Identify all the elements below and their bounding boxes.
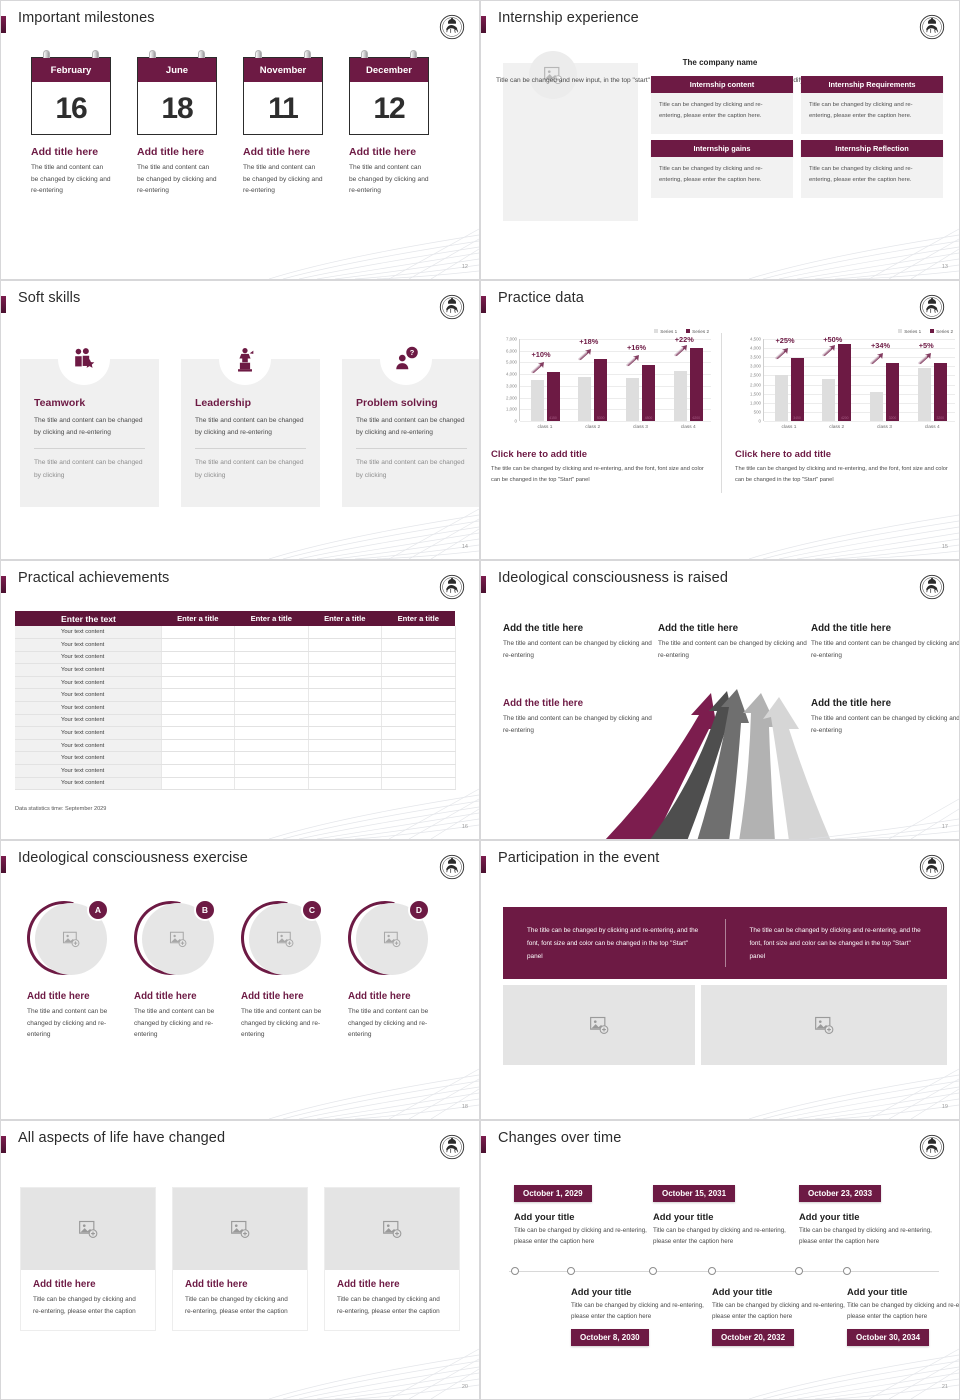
timeline-body: Title can be changed by clicking and re-… (847, 1300, 960, 1322)
raised-item: Add the title here The title and content… (811, 698, 960, 737)
slide-soft-skills: Soft skills Teamwork (0, 280, 480, 560)
circle-badge: B (194, 899, 216, 921)
chart-bar-value: 6200 (690, 416, 703, 420)
skill-title: Teamwork (34, 397, 145, 409)
table-cell (308, 676, 382, 689)
chart-bar (578, 377, 591, 422)
internship-box-body: Title can be changed by clicking and re-… (801, 93, 943, 134)
raised-item: Add the title here The title and content… (811, 623, 960, 662)
company-name: The company name (481, 58, 959, 67)
table-cell (235, 727, 309, 740)
table-cell (161, 626, 235, 639)
milestone-title: Add title here (137, 146, 217, 158)
timeline-date-chip: October 23, 2033 (799, 1185, 881, 1202)
timeline-title: Add your title (653, 1211, 793, 1222)
table-row: Your text content (15, 739, 455, 752)
chart-delta-annotation: +25% (775, 336, 794, 345)
table-cell (308, 727, 382, 740)
chart-bar (822, 379, 835, 421)
university-seal-icon (439, 574, 465, 600)
page-title: Participation in the event (498, 850, 659, 866)
skill-title: Leadership (195, 397, 306, 409)
table-cell (382, 765, 456, 778)
skill-body: The title and content can be changed by … (34, 415, 145, 439)
table-cell (235, 777, 309, 790)
life-card-row: Add title here Title can be changed by c… (20, 1187, 460, 1331)
table-note: Data statistics time: September 2029 (15, 806, 106, 812)
table-header-cell: Enter the text (15, 611, 161, 626)
calendar-icon: December 12 (349, 57, 429, 135)
life-card: Add title here Title can be changed by c… (20, 1187, 156, 1331)
table-cell: Your text content (15, 626, 161, 639)
life-card-body: Title can be changed by clicking and re-… (185, 1294, 295, 1318)
add-image-icon (169, 930, 187, 948)
table-cell: Your text content (15, 714, 161, 727)
add-image-icon (276, 930, 294, 948)
table-row: Your text content (15, 702, 455, 715)
circle-row: A Add title here The title and content c… (27, 899, 430, 1041)
chart-bar: 5300 (594, 359, 607, 421)
page-title: Important milestones (18, 10, 155, 26)
timeline-node (649, 1267, 657, 1275)
trend-arrow-icon (918, 353, 932, 365)
circle-title: Add title here (27, 991, 109, 1002)
timeline-entry-bottom: Add your title Title can be changed by c… (712, 1286, 852, 1346)
timeline-node (708, 1267, 716, 1275)
life-card-title: Add title here (33, 1279, 143, 1290)
chart-divider (721, 333, 722, 493)
table-cell (308, 739, 382, 752)
slide-header: Participation in the event (481, 853, 959, 879)
university-seal-icon (919, 294, 945, 320)
wave-decoration (269, 209, 479, 279)
table-cell (161, 752, 235, 765)
image-placeholder[interactable] (173, 1188, 307, 1270)
chart-bar: 6200 (690, 348, 703, 421)
table-cell (161, 739, 235, 752)
add-image-icon (230, 1219, 250, 1239)
table-cell (235, 651, 309, 664)
event-text-right: The title can be changed by clicking and… (726, 907, 948, 979)
circle-body: The title and content can be changed by … (241, 1006, 323, 1041)
timeline-entry-bottom: Add your title Title can be changed by c… (571, 1286, 711, 1346)
table-header-cell: Enter a title (161, 611, 235, 626)
internship-box-body: Title can be changed by clicking and re-… (651, 93, 793, 134)
table-cell (161, 639, 235, 652)
table-row: Your text content (15, 651, 455, 664)
chart-plot-area: 01,0002,0003,0004,0005,0006,0007,0004150… (519, 339, 711, 421)
slide-participation-event: Participation in the event The title can… (480, 840, 960, 1120)
add-image-icon (814, 1015, 834, 1035)
table-row: Your text content (15, 689, 455, 702)
university-seal-icon (439, 1134, 465, 1160)
chart-x-label: class 2 (578, 425, 607, 430)
page-number: 16 (462, 824, 468, 830)
leadership-icon (219, 333, 271, 385)
university-seal-icon (439, 14, 465, 40)
table-cell: Your text content (15, 752, 161, 765)
timeline-title: Add your title (571, 1286, 711, 1297)
image-placeholder[interactable] (325, 1188, 459, 1270)
slide-header: Practice data (481, 293, 959, 319)
table-cell (161, 702, 235, 715)
chart-legend: Series 1 Series 2 (654, 329, 709, 334)
chart-caption-left: Click here to add title The title can be… (491, 449, 713, 486)
timeline-title: Add your title (847, 1286, 960, 1297)
circle-body: The title and content can be changed by … (348, 1006, 430, 1041)
add-image-icon (78, 1219, 98, 1239)
table-cell: Your text content (15, 777, 161, 790)
chart-bar-group: 3450class 1 (775, 358, 804, 421)
table-cell (235, 664, 309, 677)
svg-text:?: ? (410, 348, 415, 357)
milestone-body: The title and content can be changed by … (137, 162, 217, 197)
slide-header: Ideological consciousness exercise (1, 853, 479, 879)
chart-bar (674, 371, 687, 421)
achievements-table: Enter the text Enter a title Enter a tit… (15, 611, 456, 790)
table-cell (308, 702, 382, 715)
slide-header: All aspects of life have changed (1, 1133, 479, 1159)
raised-item-title: Add the title here (503, 623, 653, 634)
chart-y-tick: 1,500 (750, 391, 761, 396)
timeline-body: Title can be changed by clicking and re-… (712, 1300, 852, 1322)
slide-practical-achievements: Practical achievements Enter the text En… (0, 560, 480, 840)
timeline-body: Title can be changed by clicking and re-… (653, 1225, 793, 1247)
chart-x-label: class 2 (822, 425, 851, 430)
page-number: 19 (942, 1104, 948, 1110)
calendar-month: June (166, 65, 188, 76)
chart-bar (870, 392, 883, 421)
chart-bar: 4150 (547, 372, 560, 421)
chart-bar-value: 4200 (838, 416, 851, 420)
chart-y-tick: 4,000 (506, 372, 517, 377)
title-accent-bar (1, 1136, 6, 1153)
title-accent-bar (481, 576, 486, 593)
slide-header: Practical achievements (1, 573, 479, 599)
page-number: 21 (942, 1384, 948, 1390)
raised-item: Add the title here The title and content… (503, 623, 653, 662)
life-card-title: Add title here (185, 1279, 295, 1290)
table-cell (235, 702, 309, 715)
chart-legend: Series 1 Series 2 (898, 329, 953, 334)
slide-ideological-exercise: Ideological consciousness exercise (0, 840, 480, 1120)
table-cell (161, 714, 235, 727)
title-accent-bar (1, 16, 6, 33)
table-cell (382, 777, 456, 790)
trend-arrow-icon (531, 362, 545, 374)
chart-plot-area: 05001,0001,5002,0002,5003,0003,5004,0004… (763, 339, 955, 421)
chart-caption-body: The title can be changed by clicking and… (491, 464, 713, 486)
slide-changes-over-time: Changes over time October 1, 2029 Add yo… (480, 1120, 960, 1400)
chart-y-tick: 7,000 (506, 337, 517, 342)
skill-subbody: The title and content can be changed by … (356, 457, 467, 481)
chart-delta-annotation: +22% (675, 335, 694, 344)
chart-y-tick: 6,000 (506, 348, 517, 353)
table-cell (161, 727, 235, 740)
title-accent-bar (1, 856, 6, 873)
slide-header: Internship experience (481, 13, 959, 39)
timeline-body: Title can be changed by clicking and re-… (571, 1300, 711, 1322)
internship-box: Internship Reflection Title can be chang… (801, 140, 943, 198)
timeline-entry-top: October 1, 2029 Add your title Title can… (514, 1183, 654, 1247)
image-placeholder[interactable] (503, 985, 695, 1065)
table-cell (235, 739, 309, 752)
chart-caption-body: The title can be changed by clicking and… (735, 464, 957, 486)
page-number: 20 (462, 1384, 468, 1390)
chart-y-tick: 2,000 (506, 395, 517, 400)
chart-x-label: class 3 (870, 425, 899, 430)
table-cell (382, 727, 456, 740)
raised-item-title: Add the title here (811, 623, 960, 634)
life-card-title: Add title here (337, 1279, 447, 1290)
chart-delta-annotation: +16% (627, 343, 646, 352)
chart-caption-right: Click here to add title The title can be… (735, 449, 957, 486)
table-cell (308, 777, 382, 790)
trend-arrow-icon (870, 353, 884, 365)
timeline-node (511, 1267, 519, 1275)
skill-subbody: The title and content can be changed by … (195, 457, 306, 481)
bar-chart-right: Series 1 Series 2 05001,0001,5002,0002,5… (737, 329, 959, 439)
page-title: Ideological consciousness exercise (18, 850, 248, 866)
table-row: Your text content (15, 752, 455, 765)
circle-body: The title and content can be changed by … (134, 1006, 216, 1041)
table-row: Your text content (15, 639, 455, 652)
add-image-icon (382, 1219, 402, 1239)
chart-delta-annotation: +34% (871, 341, 890, 350)
chart-caption-title: Click here to add title (735, 449, 957, 460)
table-cell (382, 739, 456, 752)
internship-box: Internship Requirements Title can be cha… (801, 76, 943, 134)
divider (34, 448, 145, 449)
chart-x-label: class 4 (674, 425, 703, 430)
chart-bar-group: 3200class 3 (870, 363, 899, 421)
table-cell (308, 689, 382, 702)
divider (356, 448, 467, 449)
slide-header: Soft skills (1, 293, 479, 319)
image-placeholder[interactable] (701, 985, 947, 1065)
wave-decoration (269, 1329, 479, 1399)
circle-title: Add title here (348, 991, 430, 1002)
circle-item: C Add title here The title and content c… (241, 899, 323, 1041)
milestone-title: Add title here (349, 146, 429, 158)
legend-item: Series 1 (898, 329, 921, 334)
page-title: All aspects of life have changed (18, 1130, 225, 1146)
university-seal-icon (439, 854, 465, 880)
university-seal-icon (919, 14, 945, 40)
table-cell (235, 676, 309, 689)
table-header-cell: Enter a title (308, 611, 382, 626)
legend-item: Series 2 (930, 329, 953, 334)
raised-item-body: The title and content can be changed by … (811, 638, 960, 662)
chart-bar (775, 375, 788, 421)
problem-solving-icon: ? (380, 333, 432, 385)
chart-bar: 4800 (642, 365, 655, 421)
legend-item: Series 1 (654, 329, 677, 334)
slide-all-aspects-life: All aspects of life have changed (0, 1120, 480, 1400)
event-text-left: The title can be changed by clicking and… (503, 907, 725, 979)
table-cell (308, 651, 382, 664)
chart-bar: 4200 (838, 344, 851, 421)
table-cell (308, 639, 382, 652)
table-cell (382, 689, 456, 702)
legend-item: Series 2 (686, 329, 709, 334)
title-accent-bar (1, 576, 6, 593)
table-cell (308, 765, 382, 778)
raised-item: Add the title here The title and content… (503, 698, 653, 737)
table-row: Your text content (15, 626, 455, 639)
trend-arrow-icon (578, 349, 592, 361)
circle-item: D Add title here The title and content c… (348, 899, 430, 1041)
title-accent-bar (481, 1136, 486, 1153)
table-row: Your text content (15, 777, 455, 790)
skill-card: Teamwork The title and content can be ch… (20, 359, 159, 507)
chart-y-tick: 2,000 (750, 382, 761, 387)
trend-arrow-icon (775, 348, 789, 360)
slide-internship-experience: Internship experience The company name T… (480, 0, 960, 280)
slide-header: Important milestones (1, 13, 479, 39)
calendar-month: December (366, 65, 412, 76)
milestone-item: June 18 Add title here The title and con… (137, 57, 217, 197)
page-number: 18 (462, 1104, 468, 1110)
timeline-date-chip: October 15, 2031 (653, 1185, 735, 1202)
table-cell (308, 664, 382, 677)
slide-ideological-raised: Ideological consciousness is raised Add … (480, 560, 960, 840)
chart-bar-value: 3200 (934, 416, 947, 420)
table-cell (161, 664, 235, 677)
raised-item-title: Add the title here (811, 698, 960, 709)
page-title: Changes over time (498, 1130, 621, 1146)
raised-item-body: The title and content can be changed by … (658, 638, 808, 662)
milestone-title: Add title here (243, 146, 323, 158)
table-cell (235, 626, 309, 639)
chart-bar-value: 5300 (594, 416, 607, 420)
table-cell (382, 639, 456, 652)
table-cell (235, 639, 309, 652)
table-cell: Your text content (15, 651, 161, 664)
chart-y-tick: 4,000 (750, 346, 761, 351)
skill-card: Leadership The title and content can be … (181, 359, 320, 507)
skill-title: Problem solving (356, 397, 467, 409)
calendar-month: February (51, 65, 92, 76)
calendar-month: November (260, 65, 306, 76)
wave-decoration (749, 489, 959, 559)
timeline-date-chip: October 30, 2034 (847, 1329, 929, 1346)
bar-chart-left: Series 1 Series 2 01,0002,0003,0004,0005… (493, 329, 715, 439)
table-row: Your text content (15, 765, 455, 778)
table-cell (308, 626, 382, 639)
chart-delta-annotation: +50% (823, 335, 842, 344)
table-cell (161, 777, 235, 790)
table-cell: Your text content (15, 727, 161, 740)
page-title: Soft skills (18, 290, 80, 306)
timeline-entry-top: October 23, 2033 Add your title Title ca… (799, 1183, 939, 1247)
raised-item-body: The title and content can be changed by … (811, 713, 960, 737)
image-placeholder[interactable] (21, 1188, 155, 1270)
table-header-cell: Enter a title (235, 611, 309, 626)
circle-title: Add title here (134, 991, 216, 1002)
chart-caption-title: Click here to add title (491, 449, 713, 460)
table-cell: Your text content (15, 765, 161, 778)
table-header-row: Enter the text Enter a title Enter a tit… (15, 611, 455, 626)
slide-header: Changes over time (481, 1133, 959, 1159)
circle-badge: A (87, 899, 109, 921)
internship-box: Internship gains Title can be changed by… (651, 140, 793, 198)
chart-x-label: class 4 (918, 425, 947, 430)
chart-bar: 3450 (791, 358, 804, 421)
chart-x-label: class 1 (531, 425, 560, 430)
chart-bar: 3200 (886, 363, 899, 421)
calendar-icon: February 16 (31, 57, 111, 135)
add-image-icon (383, 930, 401, 948)
circle-item: B Add title here The title and content c… (134, 899, 216, 1041)
chart-y-tick: 3,000 (506, 383, 517, 388)
chart-bar-group: 4800class 3 (626, 365, 655, 421)
page-number: 17 (942, 824, 948, 830)
page-title: Ideological consciousness is raised (498, 570, 728, 586)
circle-badge: D (408, 899, 430, 921)
divider (195, 448, 306, 449)
table-header-cell: Enter a title (382, 611, 456, 626)
milestone-body: The title and content can be changed by … (349, 162, 429, 197)
add-image-icon (589, 1015, 609, 1035)
university-seal-icon (919, 854, 945, 880)
raised-item-body: The title and content can be changed by … (503, 713, 653, 737)
calendar-day: 11 (244, 82, 322, 136)
table-cell (235, 765, 309, 778)
event-text-band: The title can be changed by clicking and… (503, 907, 947, 979)
page-number: 15 (942, 544, 948, 550)
internship-box-title: Internship Reflection (801, 140, 943, 157)
chart-gridline (764, 421, 955, 422)
timeline-node (843, 1267, 851, 1275)
title-accent-bar (481, 296, 486, 313)
timeline-date-chip: October 8, 2030 (571, 1329, 649, 1346)
slide-header: Ideological consciousness is raised (481, 573, 959, 599)
title-accent-bar (481, 16, 486, 33)
title-accent-bar (1, 296, 6, 313)
timeline-entry-bottom: Add your title Title can be changed by c… (847, 1286, 960, 1346)
skill-body: The title and content can be changed by … (356, 415, 467, 439)
calendar-icon: November 11 (243, 57, 323, 135)
chart-y-tick: 3,500 (750, 355, 761, 360)
internship-box-body: Title can be changed by clicking and re-… (801, 157, 943, 198)
chart-bar-group: 3200class 4 (918, 363, 947, 421)
internship-box-body: Title can be changed by clicking and re-… (651, 157, 793, 198)
life-card: Add title here Title can be changed by c… (324, 1187, 460, 1331)
milestone-item: November 11 Add title here The title and… (243, 57, 323, 197)
skill-card: ? Problem solving The title and content … (342, 359, 480, 507)
chart-y-tick: 0 (515, 419, 517, 424)
slide-deck: Important milestones February 16 Add tit… (0, 0, 960, 1400)
trend-arrow-icon (626, 355, 640, 367)
table-cell: Your text content (15, 739, 161, 752)
table-cell (382, 714, 456, 727)
wave-decoration (749, 209, 959, 279)
timeline-body: Title can be changed by clicking and re-… (799, 1225, 939, 1247)
milestone-item: December 12 Add title here The title and… (349, 57, 429, 197)
page-number: 12 (462, 264, 468, 270)
trend-arrow-icon (822, 345, 836, 357)
table-cell: Your text content (15, 702, 161, 715)
milestone-body: The title and content can be changed by … (243, 162, 323, 197)
life-card: Add title here Title can be changed by c… (172, 1187, 308, 1331)
calendar-day: 18 (138, 82, 216, 136)
university-seal-icon (919, 1134, 945, 1160)
chart-x-label: class 1 (775, 425, 804, 430)
page-title: Internship experience (498, 10, 639, 26)
table-cell (235, 689, 309, 702)
table-cell (382, 626, 456, 639)
